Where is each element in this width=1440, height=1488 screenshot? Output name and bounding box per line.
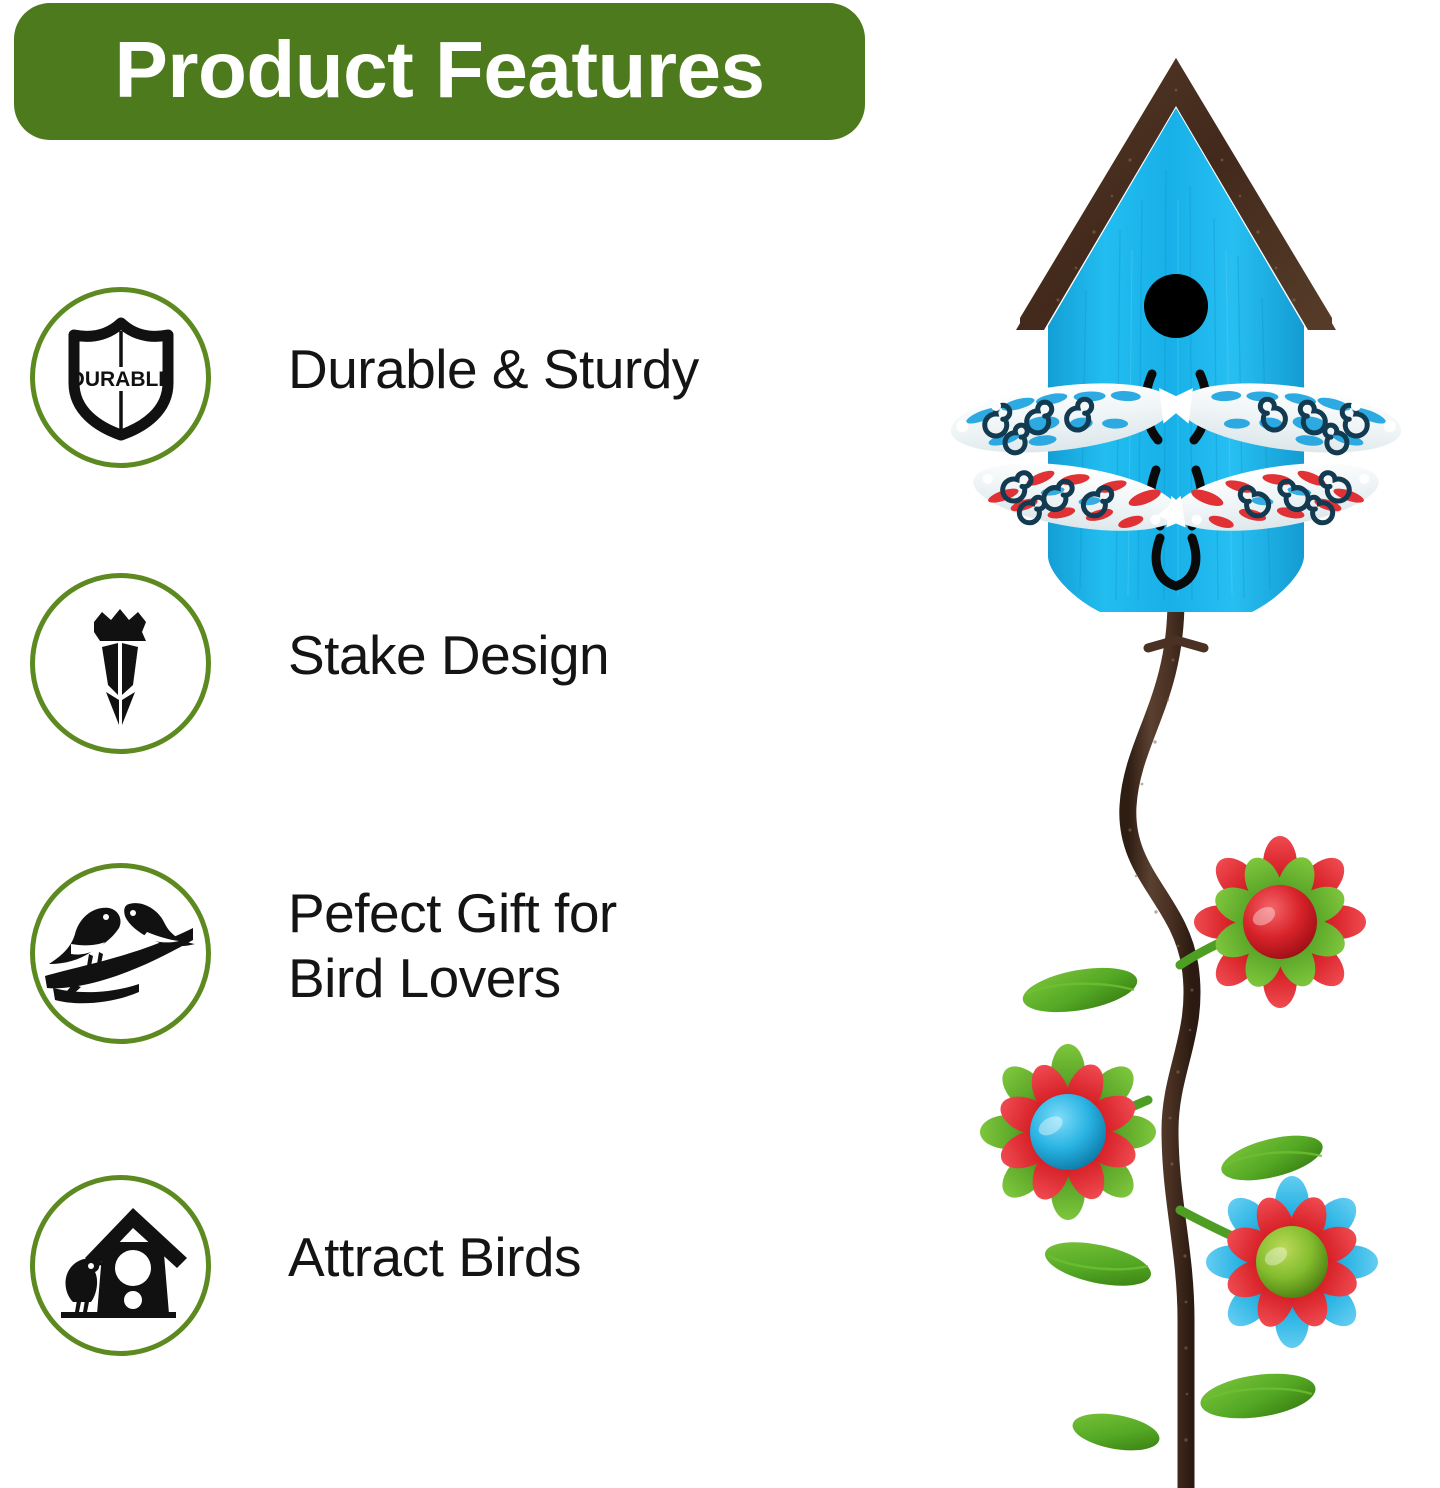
- feature-item-stake: Stake Design: [0, 573, 880, 754]
- feature-label-attract-birds: Attract Birds: [288, 1225, 581, 1290]
- leaf: [1217, 1127, 1327, 1189]
- flower-top: [1194, 836, 1366, 1008]
- page-title: Product Features: [115, 30, 765, 110]
- birdhouse: [947, 58, 1405, 612]
- two-birds-on-branch-icon: [30, 863, 211, 1044]
- shield-icon-label: DURABLE: [69, 368, 172, 391]
- birdhouse-with-bird-icon: [30, 1175, 211, 1356]
- shield-durable-icon: DURABLE: [30, 287, 211, 468]
- leaf: [1198, 1367, 1319, 1425]
- feature-item-durable: DURABLE Durable & Sturdy: [0, 287, 880, 468]
- ground-stake-icon: [30, 573, 211, 754]
- feature-label-bird-lovers: Pefect Gift for Bird Lovers: [288, 881, 617, 1011]
- product-image-dragonfly-birdhouse-stake: [880, 0, 1440, 1488]
- feature-item-bird-lovers: Pefect Gift for Bird Lovers: [0, 863, 880, 1044]
- flower-bottom: [1206, 1176, 1378, 1348]
- leaf: [1070, 1408, 1163, 1457]
- flower-middle: [980, 1044, 1156, 1220]
- feature-label-durable: Durable & Sturdy: [288, 337, 699, 402]
- page-header-banner: Product Features: [14, 3, 865, 140]
- leaf: [1019, 960, 1140, 1020]
- leaf: [1041, 1234, 1155, 1294]
- feature-label-stake: Stake Design: [288, 623, 609, 688]
- feature-item-attract-birds: Attract Birds: [0, 1175, 880, 1356]
